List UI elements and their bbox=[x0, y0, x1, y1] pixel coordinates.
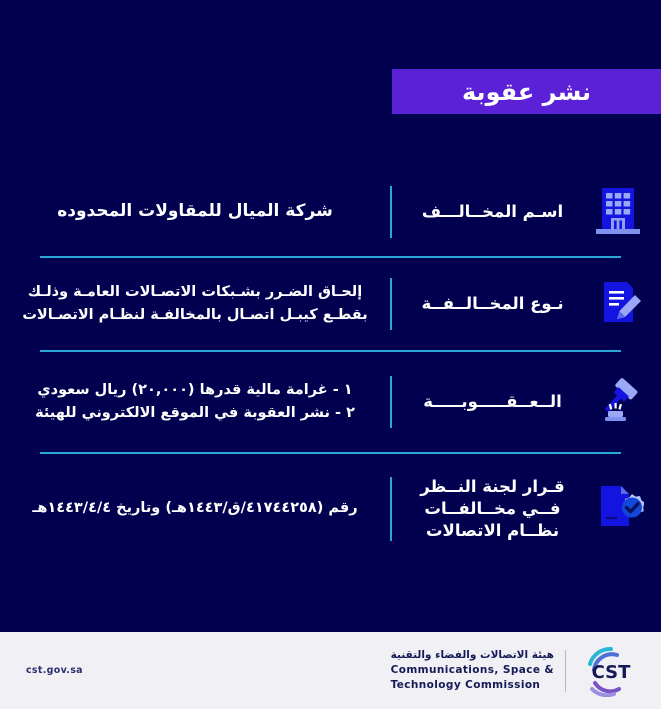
footer-name-ar: هيئة الاتصالات والفضاء والتقنية bbox=[391, 648, 554, 663]
row-label: اسـم المخــالـــف bbox=[392, 201, 589, 223]
row-value-side: إلحـاق الضـرر بشـبكات الاتصـالات العامـة… bbox=[0, 258, 390, 350]
row-label: الــعــقـــــوبـــــة bbox=[392, 391, 589, 413]
row-separator-vertical bbox=[390, 376, 392, 428]
row-separator-vertical bbox=[390, 186, 392, 238]
svg-text:CST: CST bbox=[592, 662, 632, 683]
row-separator-vertical bbox=[390, 278, 392, 330]
document-pen-icon bbox=[589, 275, 647, 333]
cst-logo-icon: CST bbox=[581, 645, 637, 697]
row-label: نـوع المخــالــفــة bbox=[392, 293, 589, 315]
row-label: قـرار لجنة النــظر فــي مخــالفــات نظــ… bbox=[392, 476, 589, 543]
row-value: شركة الميال للمقاولات المحدوده bbox=[22, 198, 368, 225]
table-row-violation-type: نـوع المخــالــفــة إلحـاق الضـرر بشـبكا… bbox=[0, 258, 661, 350]
document-verified-icon bbox=[589, 480, 647, 538]
row-value: إلحـاق الضـرر بشـبكات الاتصـالات العامـة… bbox=[22, 281, 368, 327]
row-label-side: نـوع المخــالــفــة bbox=[392, 258, 661, 350]
header-banner: نشر عقوبة bbox=[392, 69, 661, 114]
row-label-side: قـرار لجنة النــظر فــي مخــالفــات نظــ… bbox=[392, 454, 661, 564]
row-value-side: شركة الميال للمقاولات المحدوده bbox=[0, 168, 390, 256]
table-row-committee-decision: قـرار لجنة النــظر فــي مخــالفــات نظــ… bbox=[0, 454, 661, 564]
row-value-side: رقم (٤١٧٤٤٢٥٨/ق/١٤٤٣هـ) وتاريخ ١٤٤٣/٤/٤ه… bbox=[0, 454, 390, 564]
row-value: ١ - غرامة مالية قدرها (٢٠,٠٠٠) ريال سعود… bbox=[22, 379, 368, 425]
footer-name-en-line2: Technology Commission bbox=[391, 678, 554, 693]
row-label-side: اسـم المخــالـــف bbox=[392, 168, 661, 256]
page-title: نشر عقوبة bbox=[462, 80, 591, 104]
footer-divider bbox=[565, 650, 566, 692]
header: نشر عقوبة bbox=[0, 69, 661, 114]
footer-name-en-line1: Communications, Space & bbox=[391, 663, 554, 678]
row-separator-vertical bbox=[390, 477, 392, 541]
footer-brand: CST هيئة الاتصالات والفضاء والتقنية Comm… bbox=[391, 645, 637, 697]
building-icon bbox=[589, 183, 647, 241]
row-value-side: ١ - غرامة مالية قدرها (٢٠,٠٠٠) ريال سعود… bbox=[0, 352, 390, 452]
footer: CST هيئة الاتصالات والفضاء والتقنية Comm… bbox=[0, 632, 661, 709]
footer-name: هيئة الاتصالات والفضاء والتقنية Communic… bbox=[391, 648, 554, 694]
table-row-penalty: الــعــقـــــوبـــــة ١ - غرامة مالية قد… bbox=[0, 352, 661, 452]
details-table: اسـم المخــالـــف شركة الميال للمقاولات … bbox=[0, 168, 661, 564]
row-label-side: الــعــقـــــوبـــــة bbox=[392, 352, 661, 452]
footer-website-url[interactable]: cst.gov.sa bbox=[26, 665, 83, 676]
gavel-icon bbox=[589, 373, 647, 431]
row-value: رقم (٤١٧٤٤٢٥٨/ق/١٤٤٣هـ) وتاريخ ١٤٤٣/٤/٤ه… bbox=[22, 497, 368, 520]
table-row-violator-name: اسـم المخــالـــف شركة الميال للمقاولات … bbox=[0, 168, 661, 256]
